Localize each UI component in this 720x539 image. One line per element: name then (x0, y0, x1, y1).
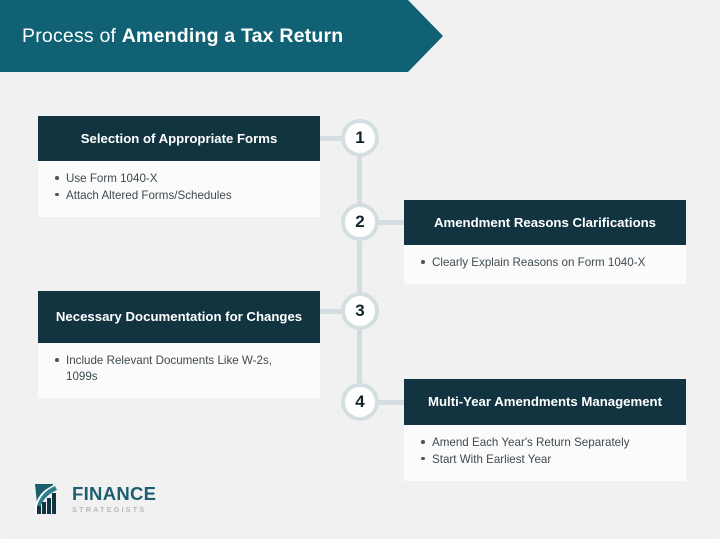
step-card-1: Selection of Appropriate Forms Use Form … (38, 116, 320, 217)
step-number-3: 3 (341, 292, 379, 330)
step-card-1-body: Use Form 1040-X Attach Altered Forms/Sch… (38, 161, 320, 217)
page-title: Process of Amending a Tax Return (0, 25, 343, 48)
brand-subtitle: STRATEGISTS (72, 506, 156, 513)
connector-stub-2 (377, 220, 406, 225)
list-item: Attach Altered Forms/Schedules (52, 188, 306, 204)
header-banner: Process of Amending a Tax Return (0, 0, 443, 72)
step-card-2-body: Clearly Explain Reasons on Form 1040-X (404, 245, 686, 284)
infographic-canvas: Process of Amending a Tax Return 1 2 3 4… (0, 0, 720, 539)
connector-stub-4 (377, 400, 406, 405)
step-card-2: Amendment Reasons Clarifications Clearly… (404, 200, 686, 284)
list-item: Include Relevant Documents Like W-2s, 10… (52, 353, 306, 385)
step-card-2-bullet-list: Clearly Explain Reasons on Form 1040-X (418, 255, 672, 271)
step-card-3: Necessary Documentation for Changes Incl… (38, 291, 320, 398)
bar-chart-logo-icon (33, 482, 67, 516)
brand-name: FINANCE (72, 485, 156, 504)
step-card-4-body: Amend Each Year's Return Separately Star… (404, 425, 686, 481)
list-item: Use Form 1040-X (52, 171, 306, 187)
brand-logo-text: FINANCE STRATEGISTS (72, 485, 156, 513)
step-card-2-title: Amendment Reasons Clarifications (404, 200, 686, 245)
list-item: Start With Earliest Year (418, 452, 672, 468)
brand-logo: FINANCE STRATEGISTS (33, 482, 156, 516)
step-number-1: 1 (341, 119, 379, 157)
step-card-3-bullet-list: Include Relevant Documents Like W-2s, 10… (52, 353, 306, 385)
step-card-4-title: Multi-Year Amendments Management (404, 379, 686, 425)
page-title-bold: Amending a Tax Return (122, 25, 344, 47)
step-number-4: 4 (341, 383, 379, 421)
step-card-3-title: Necessary Documentation for Changes (38, 291, 320, 343)
list-item: Clearly Explain Reasons on Form 1040-X (418, 255, 672, 271)
step-card-4-bullet-list: Amend Each Year's Return Separately Star… (418, 435, 672, 468)
step-card-1-bullet-list: Use Form 1040-X Attach Altered Forms/Sch… (52, 171, 306, 204)
step-card-3-body: Include Relevant Documents Like W-2s, 10… (38, 343, 320, 398)
step-card-4: Multi-Year Amendments Management Amend E… (404, 379, 686, 481)
step-card-1-title: Selection of Appropriate Forms (38, 116, 320, 161)
page-title-regular: Process of (22, 25, 122, 47)
list-item: Amend Each Year's Return Separately (418, 435, 672, 451)
step-number-2: 2 (341, 203, 379, 241)
